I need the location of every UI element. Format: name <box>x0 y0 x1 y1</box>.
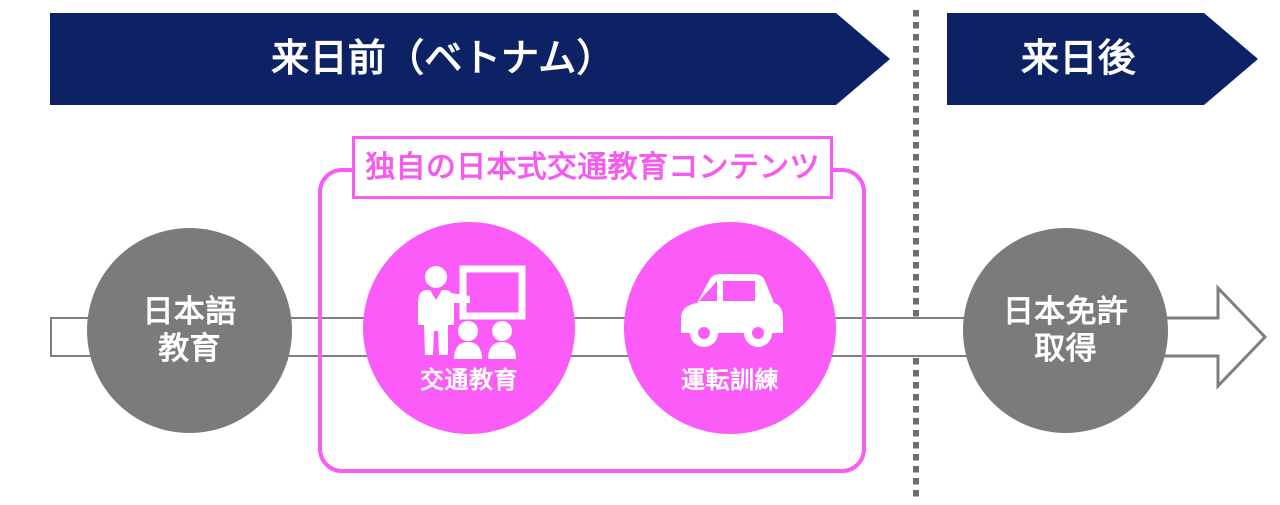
content-frame-title-box: 独自の日本式交通教育コンテンツ <box>352 136 833 199</box>
phase-divider-dotted-line <box>913 10 919 497</box>
content-frame-title-label: 独自の日本式交通教育コンテンツ <box>365 153 820 183</box>
node-japanese-license-label: 日本免許 取得 <box>1003 294 1128 367</box>
node-traffic-education[interactable]: 交通教育 <box>363 222 575 434</box>
phase-banner-before-arrival: 来日前（ベトナム） <box>50 13 890 105</box>
node-japanese-education-label: 日本語 教育 <box>143 294 237 367</box>
node-japanese-license[interactable]: 日本免許 取得 <box>963 228 1168 433</box>
car-icon <box>671 263 789 359</box>
phase-banner-after-arrival: 来日後 <box>947 13 1258 105</box>
phase-banner-after-arrival-label: 来日後 <box>1021 40 1136 78</box>
node-driving-training-caption: 運転訓練 <box>681 369 779 393</box>
right-arrow-icon <box>1160 282 1268 392</box>
node-japanese-education[interactable]: 日本語 教育 <box>87 228 292 433</box>
diagram-canvas: 来日前（ベトナム） 来日後 独自の日本式交通教育コンテンツ 日本語 教育 <box>0 0 1280 505</box>
node-driving-training[interactable]: 運転訓練 <box>624 222 836 434</box>
phase-banner-before-arrival-label: 来日前（ベトナム） <box>271 40 615 78</box>
classroom-teacher-icon <box>410 263 528 359</box>
node-traffic-education-caption: 交通教育 <box>420 369 518 393</box>
